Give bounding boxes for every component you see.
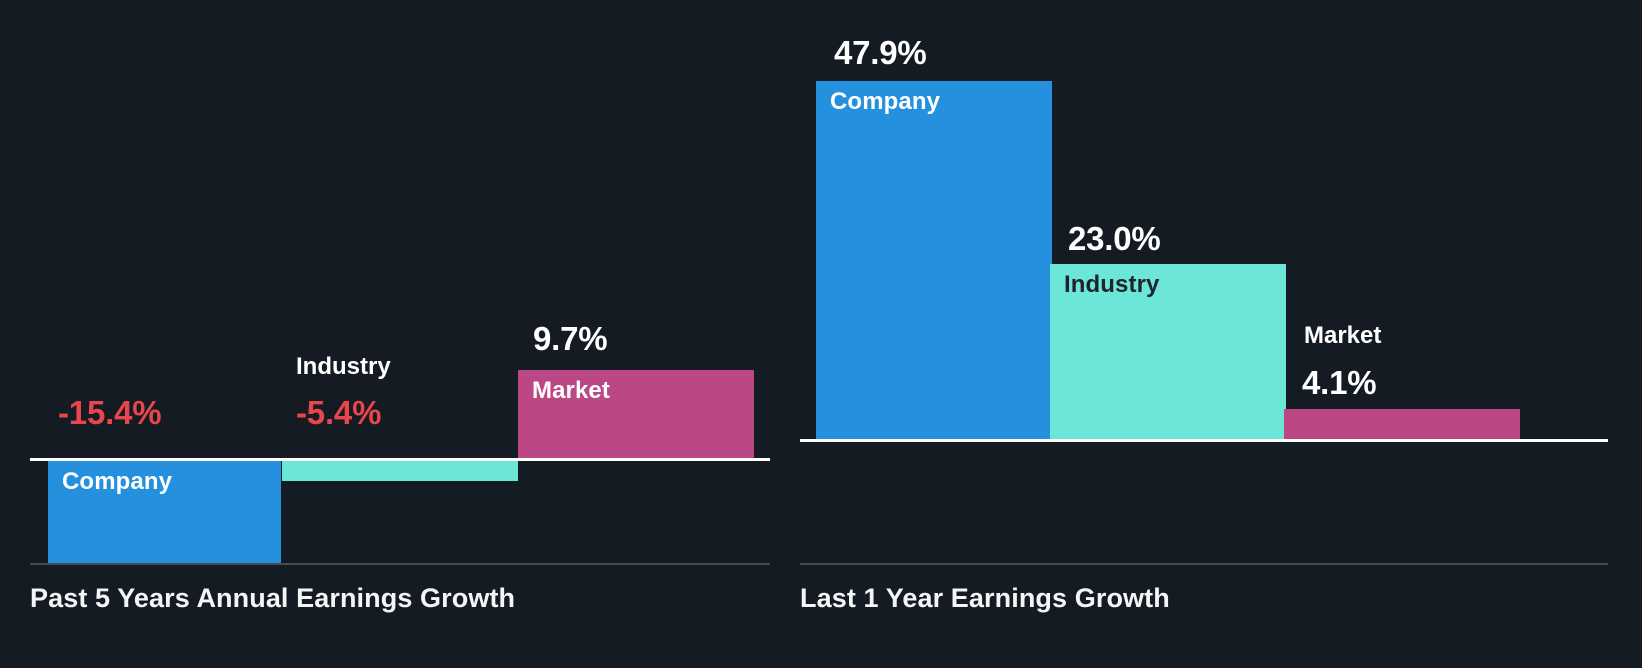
value-label-market: 4.1% <box>1302 366 1376 399</box>
chart-title-past-5-years: Past 5 Years Annual Earnings Growth <box>30 583 515 614</box>
chart-title-last-1-year: Last 1 Year Earnings Growth <box>800 583 1170 614</box>
bar-label-industry: Industry <box>1064 273 1159 297</box>
bar-industry[interactable]: Industry <box>1050 264 1286 440</box>
zero-line <box>800 439 1608 442</box>
bar-label-company: Company <box>830 90 940 114</box>
value-label-market: 9.7% <box>533 322 607 355</box>
earnings-growth-comparison: -15.4% -5.4% 9.7% Industry Company Marke… <box>0 0 1642 668</box>
value-label-industry: 23.0% <box>1068 222 1161 255</box>
bar-label-market: Market <box>532 379 610 403</box>
value-label-industry: -5.4% <box>296 396 381 429</box>
axis-base-line <box>800 563 1608 565</box>
bar-market[interactable] <box>1284 409 1520 440</box>
bar-industry[interactable] <box>282 461 518 481</box>
bar-company[interactable]: Company <box>48 461 281 564</box>
bar-company[interactable]: Company <box>816 81 1052 440</box>
chart-panel-last-1-year: 47.9% 23.0% 4.1% Market Company Industry… <box>810 0 1642 668</box>
plot-area-last-1-year: 47.9% 23.0% 4.1% Market Company Industry <box>810 0 1642 566</box>
value-label-company: 47.9% <box>834 36 927 69</box>
zero-line <box>30 458 770 461</box>
value-label-company: -15.4% <box>58 396 161 429</box>
bar-label-company: Company <box>62 470 172 494</box>
axis-base-line <box>30 563 770 565</box>
plot-area-past-5-years: -15.4% -5.4% 9.7% Industry Company Marke… <box>0 0 810 566</box>
chart-panel-past-5-years: -15.4% -5.4% 9.7% Industry Company Marke… <box>0 0 810 668</box>
bar-category-label-industry: Industry <box>296 355 391 379</box>
bar-category-label-market: Market <box>1304 324 1381 348</box>
bar-market[interactable]: Market <box>518 370 754 459</box>
